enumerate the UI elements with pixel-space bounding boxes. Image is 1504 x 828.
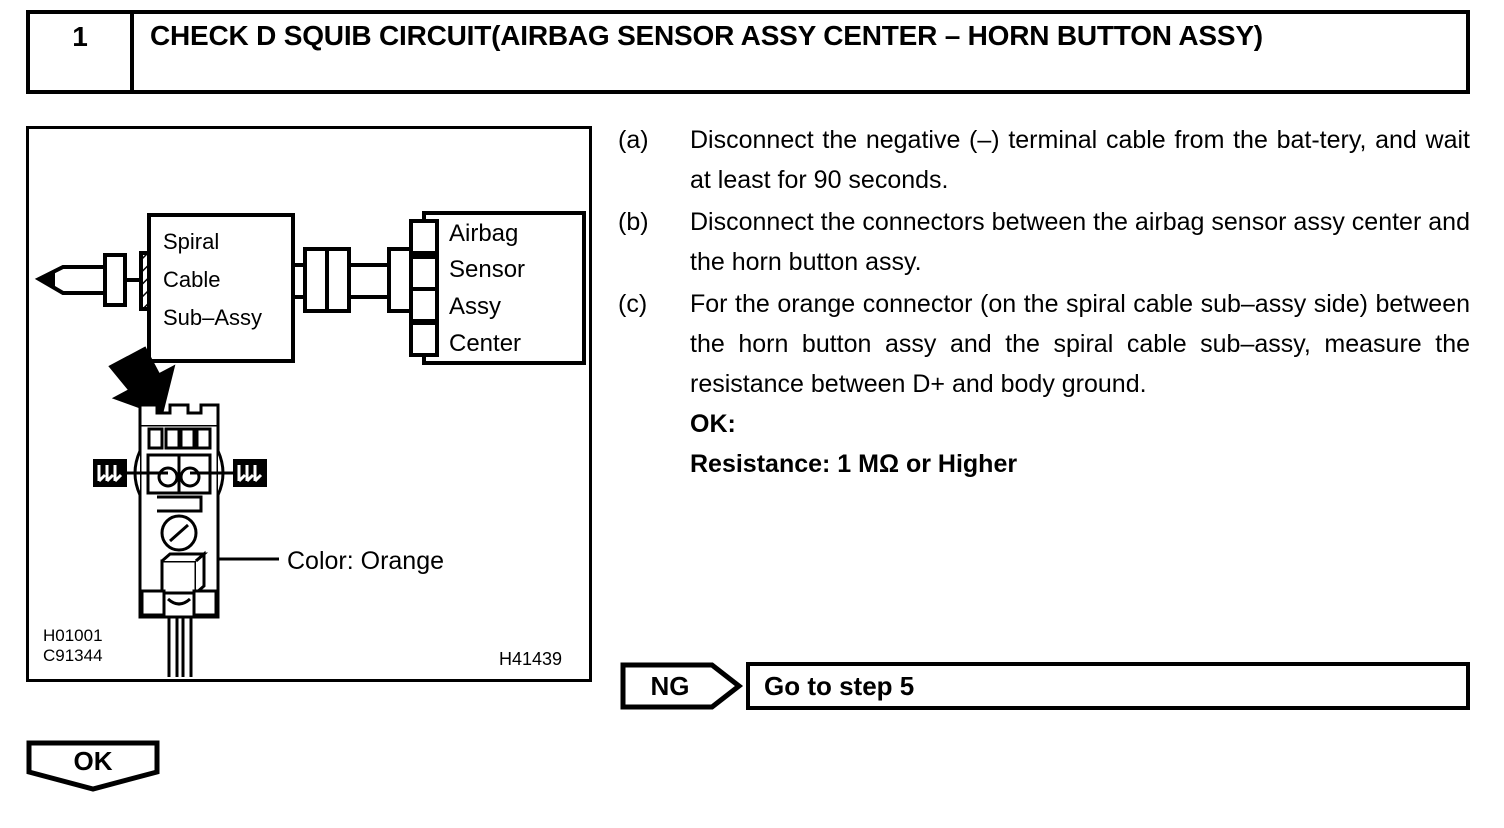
spiral-cable-line-1: Spiral [163,229,219,254]
step-header-table: 1 CHECK D SQUIB CIRCUIT(AIRBAG SENSOR AS… [26,10,1470,94]
instruction-item-b: (b) Disconnect the connectors between th… [618,202,1470,282]
airbag-sensor-line-1: Airbag [449,220,518,247]
ng-result-row: NG Go to step 5 [620,662,1470,710]
terminal-symbol-left [93,459,127,487]
spec-ok-label: OK: [690,404,1470,444]
instruction-c-body: For the orange connector (on the spiral … [690,284,1470,484]
instruction-item-a: (a) Disconnect the negative (–) terminal… [618,120,1470,200]
step-number: 1 [72,23,88,51]
step-title-cell: CHECK D SQUIB CIRCUIT(AIRBAG SENSOR ASSY… [134,14,1466,90]
figure-panel: Spiral Cable Sub–Assy Airbag Sensor Assy [26,126,592,682]
step-number-cell: 1 [30,14,134,90]
airbag-sensor-line-2: Sensor [449,256,525,283]
d-squib-connector-symbol [39,255,141,305]
step-title: CHECK D SQUIB CIRCUIT(AIRBAG SENSOR ASSY… [150,20,1263,51]
instruction-text-a: Disconnect the negative (–) terminal cab… [690,120,1470,200]
wiring-diagram-illustration: Spiral Cable Sub–Assy Airbag Sensor Assy [29,129,589,679]
ng-label: NG [620,662,720,710]
ng-next-step-label: Go to step 5 [764,671,914,702]
figure-ref-code-bottom: C91344 [43,646,103,665]
spiral-cable-line-3: Sub–Assy [163,305,262,330]
airbag-sensor-line-4: Center [449,330,521,357]
color-callout-label: Color: Orange [287,547,444,575]
instruction-item-c: (c) For the orange connector (on the spi… [618,284,1470,484]
instruction-list: (a) Disconnect the negative (–) terminal… [618,120,1470,486]
instruction-marker-c: (c) [618,284,690,324]
instruction-text-c: For the orange connector (on the spiral … [690,284,1470,404]
instruction-marker-a: (a) [618,120,690,160]
spec-resistance-value: Resistance: 1 MΩ or Higher [690,444,1470,484]
ng-next-step-box[interactable]: Go to step 5 [746,662,1470,710]
spiral-cable-box: Spiral Cable Sub–Assy [149,215,293,361]
ok-tag: OK [26,740,160,792]
connector-detail-drawing [135,405,223,677]
figure-ref-code-corner: H41439 [499,649,562,669]
inline-connector-symbol [293,249,411,311]
instruction-text-b: Disconnect the connectors between the ai… [690,202,1470,282]
terminal-symbol-right [233,459,267,487]
ng-tag: NG [620,662,742,710]
spiral-cable-line-2: Cable [163,267,220,292]
airbag-sensor-line-3: Assy [449,293,501,320]
ok-label: OK [26,740,160,782]
airbag-sensor-assy-center-box: Airbag Sensor Assy Center [411,213,584,363]
figure-ref-code-top: H01001 [43,626,103,645]
instruction-marker-b: (b) [618,202,690,242]
